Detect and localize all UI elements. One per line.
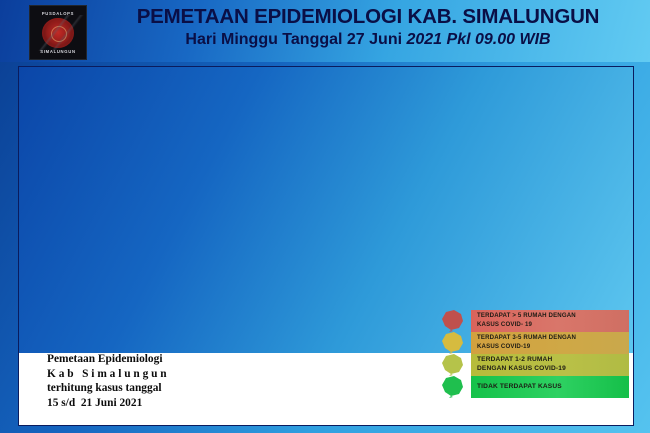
legend-marker-icon-olive bbox=[438, 353, 468, 376]
caption-line-1: Pemetaan Epidemiologi bbox=[47, 352, 257, 367]
legend-text-1to2-l2: DENGAN KASUS COVID-19 bbox=[477, 365, 629, 374]
legend-text-1to2-l1: TERDAPAT 1-2 RUMAH bbox=[477, 356, 629, 365]
logo-bottom-text: SIMALUNGUN bbox=[30, 49, 86, 54]
legend-band-yellow: TERDAPAT 3-5 RUMAH DENGAN KASUS COVID-19 bbox=[471, 332, 629, 354]
legend-row-none[interactable]: TIDAK TERDAPAT KASUS bbox=[438, 376, 634, 398]
map-caption: Pemetaan Epidemiologi K a b S i m a l u … bbox=[47, 352, 257, 410]
map-legend: TERDAPAT > 5 RUMAH DENGAN KASUS COVID- 1… bbox=[438, 310, 634, 398]
legend-text-over5-l2: KASUS COVID- 19 bbox=[477, 321, 629, 330]
subtitle-date-plain: Hari Minggu Tanggal 27 Juni bbox=[185, 31, 406, 48]
legend-band-red: TERDAPAT > 5 RUMAH DENGAN KASUS COVID- 1… bbox=[471, 310, 629, 332]
legend-marker-icon-red bbox=[438, 309, 468, 332]
logo-diagonal-decor bbox=[29, 15, 87, 51]
legend-row-3to5[interactable]: TERDAPAT 3-5 RUMAH DENGAN KASUS COVID-19 bbox=[438, 332, 634, 354]
legend-text-3to5-l2: KASUS COVID-19 bbox=[477, 343, 629, 352]
legend-text-3to5-l1: TERDAPAT 3-5 RUMAH DENGAN bbox=[477, 334, 629, 343]
poster-header: PUSDALOPS SIMALUNGUN PEMETAAN EPIDEMIOLO… bbox=[0, 0, 650, 62]
legend-band-green: TIDAK TERDAPAT KASUS bbox=[471, 376, 629, 398]
page-title: PEMETAAN EPIDEMIOLOGI KAB. SIMALUNGUN bbox=[92, 5, 644, 29]
legend-text-over5-l1: TERDAPAT > 5 RUMAH DENGAN bbox=[477, 312, 629, 321]
epidemiology-map-poster: PUSDALOPS SIMALUNGUN PEMETAAN EPIDEMIOLO… bbox=[0, 0, 650, 433]
legend-band-olive: TERDAPAT 1-2 RUMAH DENGAN KASUS COVID-19 bbox=[471, 354, 629, 376]
legend-text-none-l1: TIDAK TERDAPAT KASUS bbox=[477, 383, 629, 392]
subtitle-time-italic: 2021 Pkl 09.00 WIB bbox=[406, 31, 550, 48]
caption-line-4: 15 s/d 21 Juni 2021 bbox=[47, 396, 257, 411]
pusdalops-simalungun-logo: PUSDALOPS SIMALUNGUN bbox=[29, 5, 87, 60]
legend-row-over5[interactable]: TERDAPAT > 5 RUMAH DENGAN KASUS COVID- 1… bbox=[438, 310, 634, 332]
legend-marker-icon-yellow bbox=[438, 331, 468, 354]
caption-line-3: terhitung kasus tanggal bbox=[47, 381, 257, 396]
caption-line-2: K a b S i m a l u n g u n bbox=[47, 367, 257, 382]
legend-row-1to2[interactable]: TERDAPAT 1-2 RUMAH DENGAN KASUS COVID-19 bbox=[438, 354, 634, 376]
legend-marker-icon-green bbox=[438, 375, 468, 398]
page-subtitle: Hari Minggu Tanggal 27 Juni 2021 Pkl 09.… bbox=[92, 31, 644, 49]
logo-top-text: PUSDALOPS bbox=[30, 11, 86, 16]
